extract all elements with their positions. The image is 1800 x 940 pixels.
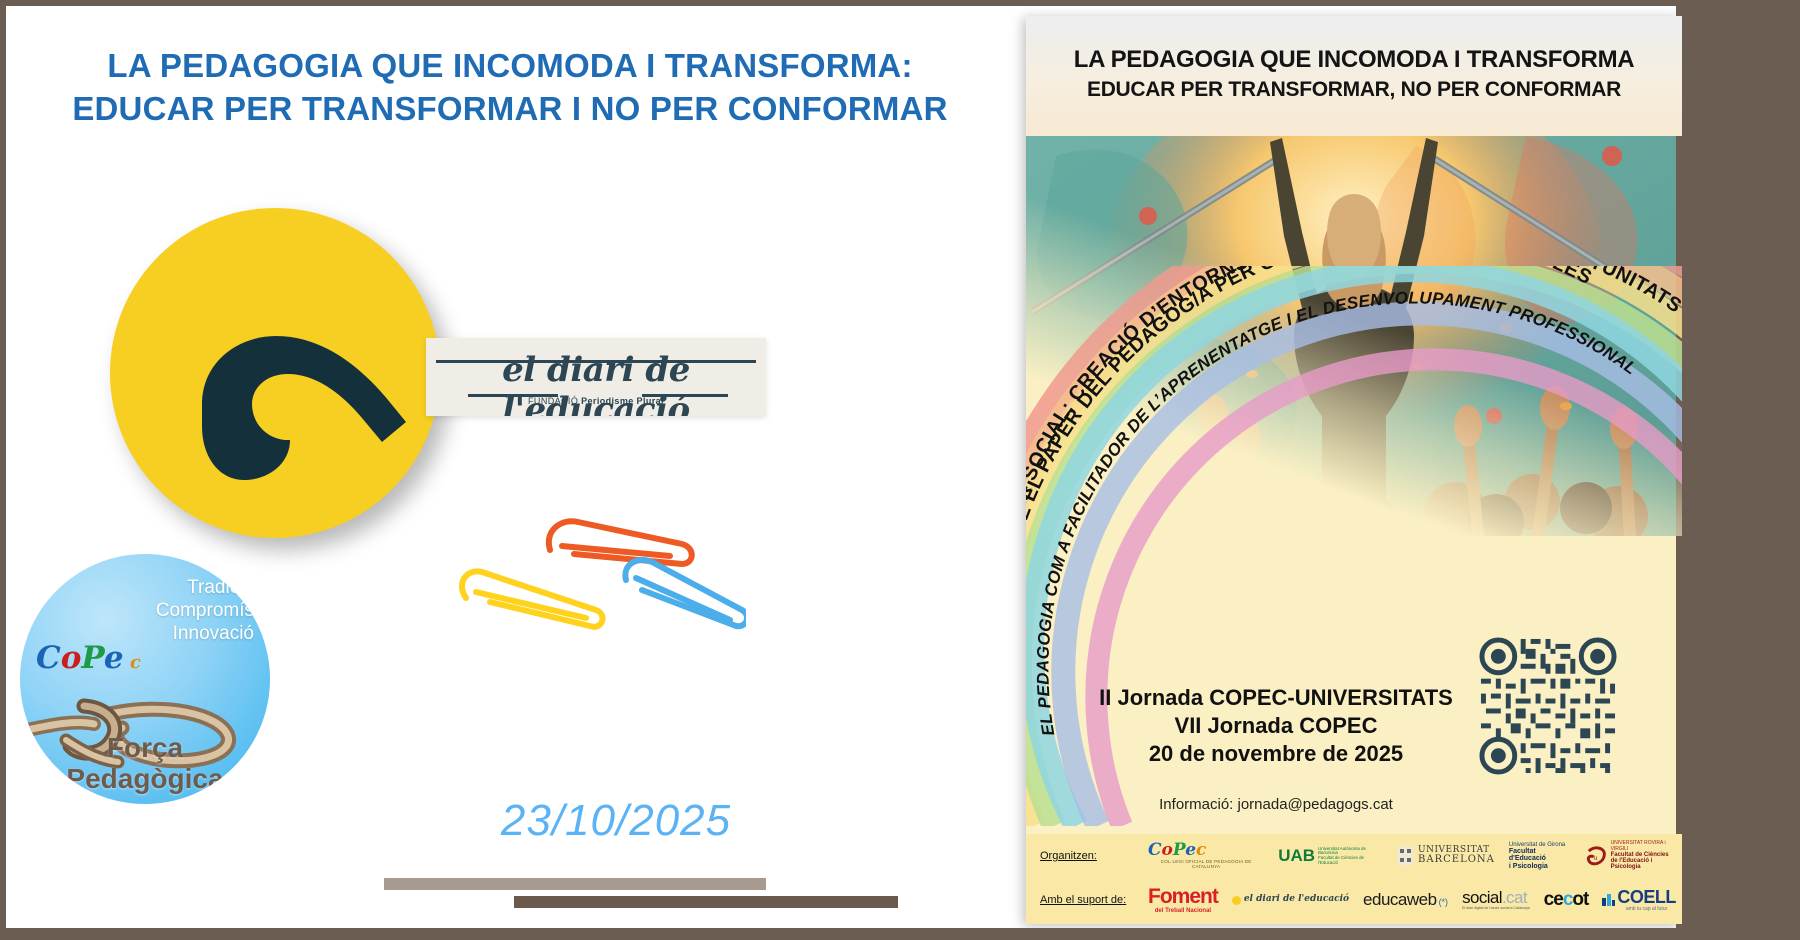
divider-bar-dark xyxy=(514,896,898,908)
logo-ub-bottom: BARCELONA xyxy=(1418,855,1495,866)
copec-tagline: Força Pedagògica xyxy=(20,732,270,794)
paperclip-orange-icon xyxy=(549,521,692,564)
svg-text:u: u xyxy=(1594,853,1598,862)
logo-coell-sub: amb tu cap al futur xyxy=(1617,907,1676,912)
logo-socialcat-text: social xyxy=(1462,888,1502,907)
logo-uab: UAB Universitat Autònoma de Barcelona Fa… xyxy=(1278,847,1383,866)
diari-wordmark-logo: el diari de l'educació FUNDACIÓ Periodis… xyxy=(426,338,766,416)
poster-contact-info: Informació: jornada@pedagogs.cat xyxy=(1066,796,1486,813)
logo-udg-sub1: Facultat d'Educació xyxy=(1509,848,1572,863)
logo-foment-text: Foment xyxy=(1148,886,1218,908)
logo-coell: COELL amb tu cap al futur xyxy=(1602,888,1676,912)
copec-circle-logo: Tradició Compromís Innovació CoPe c xyxy=(20,554,270,804)
poster-heading-line-1: LA PEDAGOGIA QUE INCOMODA I TRANSFORMA xyxy=(1026,46,1682,74)
urv-mark-icon: u xyxy=(1586,845,1607,867)
page-title: LA PEDAGOGIA QUE INCOMODA I TRANSFORMA: … xyxy=(30,44,990,130)
slide-date: 23/10/2025 xyxy=(336,796,896,846)
logo-ub: UNIVERSITAT BARCELONA xyxy=(1397,846,1495,866)
poster-heading-line-2: EDUCAR PER TRANSFORMAR, NO PER CONFORMAR xyxy=(1026,78,1682,102)
logo-copec-sub: COL·LEGI OFICIAL DE PEDAGOGIA DE CATALUN… xyxy=(1148,860,1264,870)
copec-wordmark: CoPe c xyxy=(36,640,141,676)
logo-diari-educacio: el diari de l'educació xyxy=(1232,895,1349,904)
paperclip-yellow-icon xyxy=(462,571,603,627)
frame-right-band xyxy=(1676,0,1800,940)
organizers-label: Organitzen: xyxy=(1026,850,1148,862)
paperclip-blue-icon xyxy=(625,560,746,626)
comma-icon xyxy=(110,208,440,538)
organizer-logos: CoPec COL·LEGI OFICIAL DE PEDAGOGIA DE C… xyxy=(1148,841,1682,870)
poster-heading-band: LA PEDAGOGIA QUE INCOMODA I TRANSFORMA E… xyxy=(1026,16,1682,136)
logo-coell-text: COELL xyxy=(1617,888,1676,907)
poster-event-line-1: II Jornada COPEC-UNIVERSITATS xyxy=(1066,684,1486,712)
logo-cecot: cecot xyxy=(1544,890,1589,910)
logo-foment-sub: del Treball Nacional xyxy=(1148,908,1218,914)
title-line-2: EDUCAR PER TRANSFORMAR I NO PER CONFORMA… xyxy=(30,87,990,130)
event-poster: LA PEDAGOGIA QUE INCOMODA I TRANSFORMA E… xyxy=(1026,16,1682,924)
logo-educaweb-text: educaweb xyxy=(1363,891,1437,909)
logo-copec: CoPec COL·LEGI OFICIAL DE PEDAGOGIA DE C… xyxy=(1148,842,1264,869)
divider-bar-light xyxy=(384,878,766,890)
logo-socialcat-sub: El diari digital de l'acció social a Cat… xyxy=(1462,907,1530,911)
poster-event-line-3: 20 de novembre de 2025 xyxy=(1066,740,1486,768)
presentation-slide: LA PEDAGOGIA QUE INCOMODA I TRANSFORMA: … xyxy=(6,6,1776,934)
logo-uab-text: UAB xyxy=(1278,847,1315,865)
logo-urv-sub2: de l'Educació i Psicologia xyxy=(1611,858,1682,871)
slide-canvas: LA PEDAGOGIA QUE INCOMODA I TRANSFORMA: … xyxy=(0,0,1800,940)
logo-foment: Foment del Treball Nacional xyxy=(1148,886,1218,914)
diari-circle-logo xyxy=(110,208,440,538)
frame-left-edge xyxy=(0,0,6,940)
title-line-1: LA PEDAGOGIA QUE INCOMODA I TRANSFORMA: xyxy=(107,47,912,84)
logo-diari-text: el diari de l'educació xyxy=(1244,895,1349,904)
copec-tagline-1: Força xyxy=(20,732,270,763)
diari-wordmark-text: el diari de l'educació xyxy=(426,350,766,416)
copec-value-2: Compromís xyxy=(54,599,254,622)
diari-dot-icon xyxy=(1232,896,1241,905)
diari-footer-bold: Periodisme Plural xyxy=(581,396,664,406)
frame-bottom-band xyxy=(0,928,1800,940)
ub-crest-icon xyxy=(1397,846,1414,866)
logo-socialcat: social.cat El diari digital de l'acció s… xyxy=(1462,889,1530,911)
logo-urv: u UNIVERSITAT ROVIRA i VIRGILI Facultat … xyxy=(1586,841,1682,870)
copec-value-1: Tradició xyxy=(54,576,254,599)
supporters-label: Amb el suport de: xyxy=(1026,894,1148,906)
supporter-logos: Foment del Treball Nacional el diari de … xyxy=(1148,886,1682,914)
coell-bars-icon xyxy=(1602,894,1615,906)
logo-educaweb: educaweb (*) xyxy=(1363,891,1448,909)
logo-urv-top: UNIVERSITAT ROVIRA i VIRGILI xyxy=(1611,841,1682,852)
poster-event-block: II Jornada COPEC-UNIVERSITATS VII Jornad… xyxy=(1066,684,1486,768)
logo-udg-sub2: i Psicologia xyxy=(1509,863,1572,870)
paperclip-group-icon xyxy=(446,506,746,656)
diari-footer-plain: FUNDACIÓ xyxy=(528,396,581,406)
diari-footer: FUNDACIÓ Periodisme Plural xyxy=(426,396,766,406)
poster-sponsor-area: Organitzen: CoPec COL·LEGI OFICIAL DE PE… xyxy=(1026,834,1682,924)
poster-event-line-2: VII Jornada COPEC xyxy=(1066,712,1486,740)
educaweb-asterisk-icon: (*) xyxy=(1439,898,1449,907)
copec-tagline-2: Pedagògica xyxy=(20,763,270,794)
supporters-row: Amb el suport de: Foment del Treball Nac… xyxy=(1026,878,1682,922)
copec-values: Tradició Compromís Innovació xyxy=(54,576,254,645)
organizers-row: Organitzen: CoPec COL·LEGI OFICIAL DE PE… xyxy=(1026,834,1682,878)
logo-uab-sub2: Facultat de Ciències de l'Educació xyxy=(1318,856,1383,865)
logo-udg: Universitat de Girona Facultat d'Educaci… xyxy=(1509,842,1572,870)
logo-socialcat-accent: .cat xyxy=(1502,888,1527,907)
